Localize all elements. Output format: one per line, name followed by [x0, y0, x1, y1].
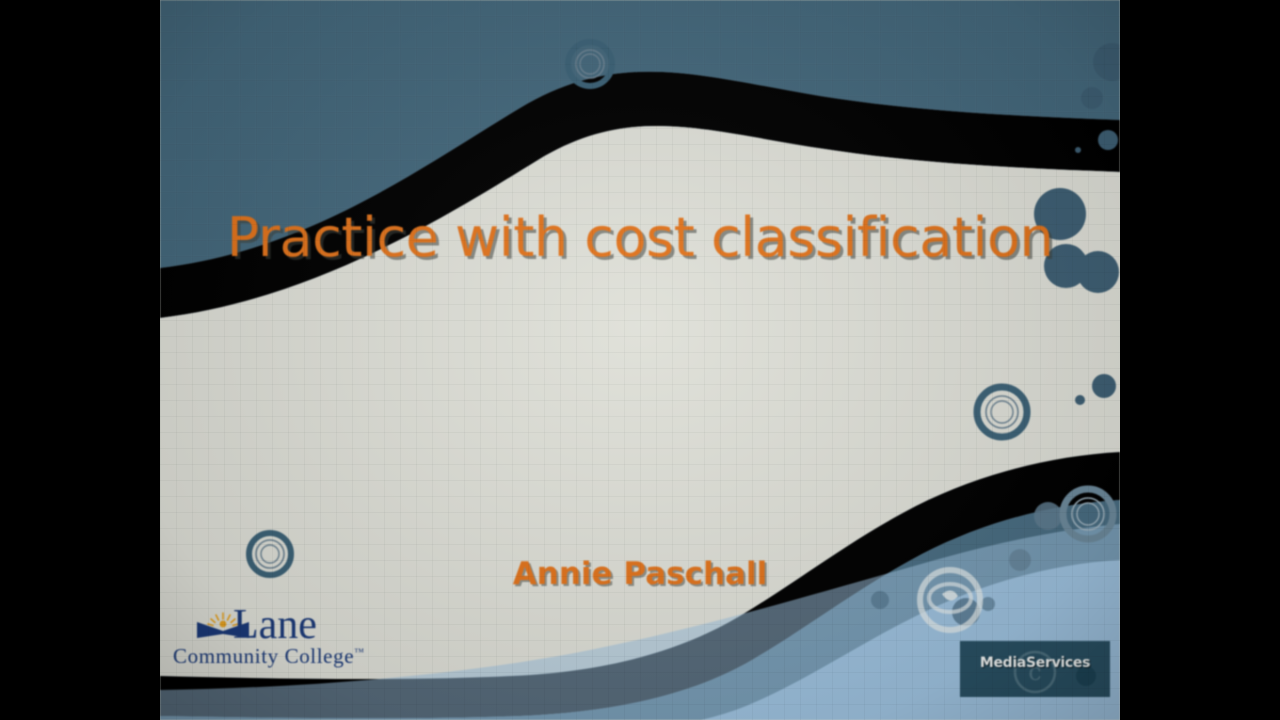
logo-trademark: ™ — [354, 647, 364, 658]
logo-tagline-text: Community College — [173, 644, 354, 668]
presentation-slide: Practice with cost classification Annie … — [160, 0, 1120, 720]
media-services-label: MediaServices — [960, 655, 1110, 671]
lane-community-college-logo: Lane Community College™ — [173, 608, 383, 670]
letterbox-right-bar — [1120, 0, 1280, 720]
logo-tagline: Community College™ — [173, 644, 365, 669]
slide-title: Practice with cost classification — [160, 203, 1120, 273]
letterbox-left-bar — [0, 0, 160, 720]
logo-wordmark: Lane — [233, 601, 317, 649]
slide-subtitle: Annie Paschall — [160, 556, 1120, 592]
media-services-watermark: c MediaServices — [960, 641, 1110, 697]
screen: Practice with cost classification Annie … — [0, 0, 1280, 720]
